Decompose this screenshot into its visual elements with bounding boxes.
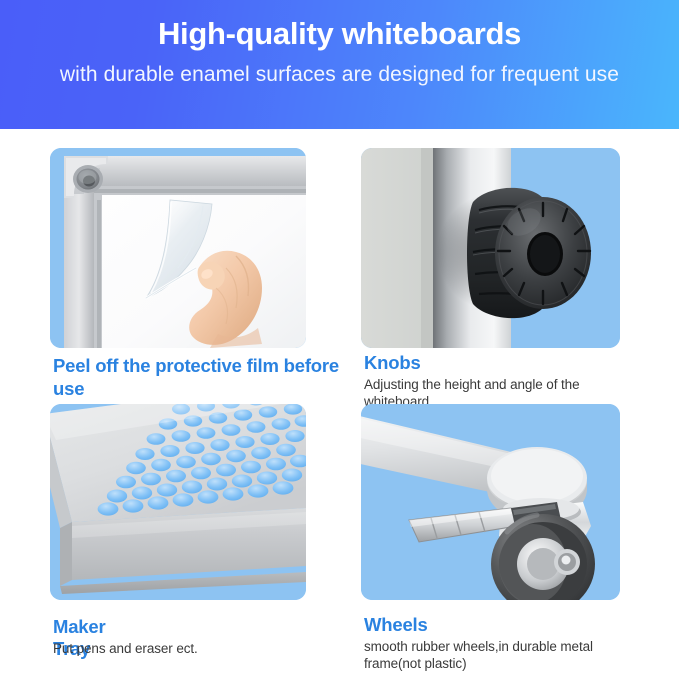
feature-title-knobs: Knobs bbox=[364, 352, 421, 374]
page-title: High-quality whiteboards bbox=[0, 13, 679, 55]
infographic-page: High-quality whiteboards with durable en… bbox=[0, 0, 679, 674]
feature-subtitle-wheels: smooth rubber wheels,in durable metal fr… bbox=[364, 638, 624, 672]
header-banner: High-quality whiteboards with durable en… bbox=[0, 0, 679, 129]
feature-title-wheels: Wheels bbox=[364, 614, 428, 636]
feature-image-film bbox=[50, 148, 306, 348]
feature-title-film: Peel off the protective film before use bbox=[53, 354, 353, 400]
page-subtitle: with durable enamel surfaces are designe… bbox=[0, 60, 679, 89]
feature-image-wheels bbox=[361, 404, 620, 600]
feature-image-tray bbox=[50, 404, 306, 600]
feature-image-knobs bbox=[361, 148, 620, 348]
feature-subtitle-tray: Put pens and eraser ect. bbox=[53, 640, 303, 657]
